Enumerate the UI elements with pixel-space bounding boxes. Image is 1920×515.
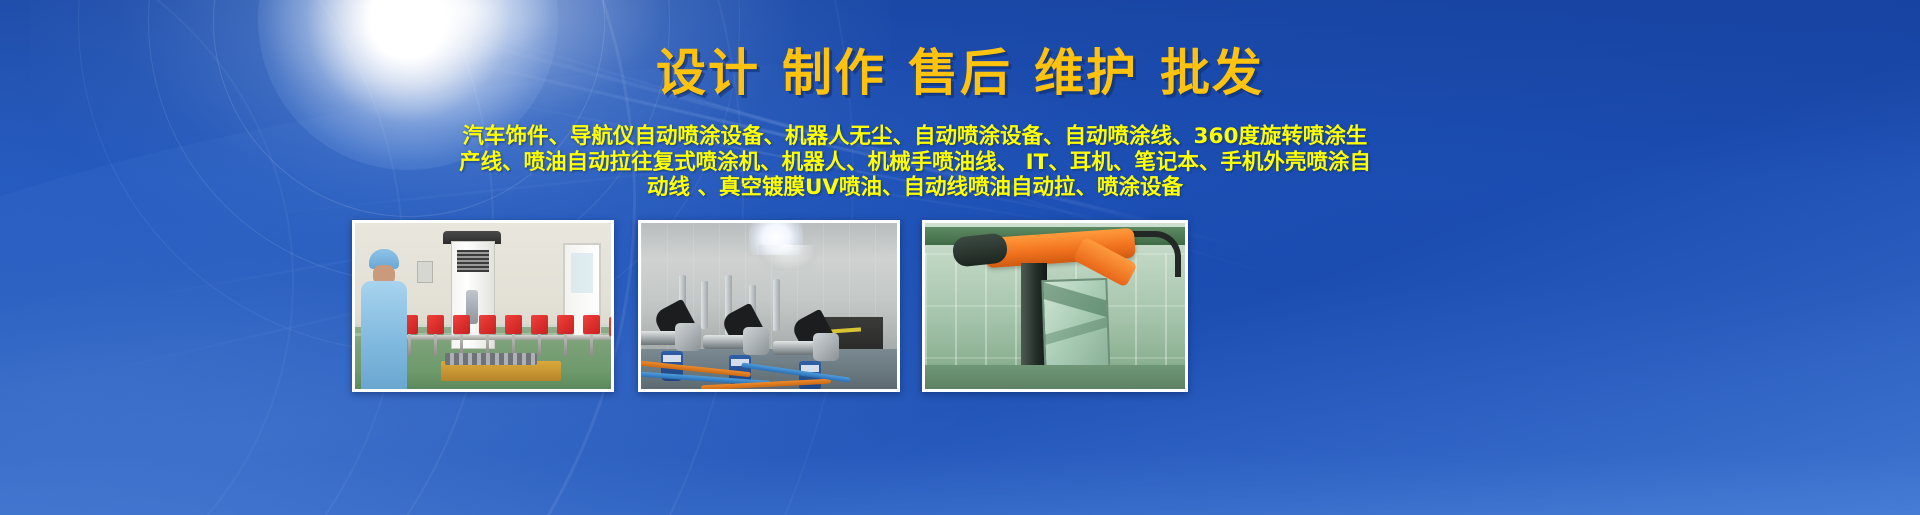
booth-hood [759,245,817,271]
air-hoses [641,353,897,389]
banner-headline: 设计制作售后维护批发 [0,48,1920,98]
headline-word-wholesale: 批发 [1160,44,1264,102]
banner-description: 汽车饰件、导航仪自动喷涂设备、机器人无尘、自动喷涂设备、自动喷涂线、360度旋转… [350,124,1480,201]
booth-floor [925,365,1185,389]
headline-word-maintenance: 维护 [1034,44,1138,102]
description-line-1: 汽车饰件、导航仪自动喷涂设备、机器人无尘、自动喷涂设备、自动喷涂线、360度旋转… [350,124,1480,150]
headline-word-after-sales: 售后 [908,44,1012,102]
description-line-3: 动线 、真空镀膜UV喷油、自动线喷油自动拉、喷涂设备 [350,175,1480,201]
description-line-2: 产线、喷油自动拉往复式喷涂机、机器人、机械手喷油线、 IT、耳机、笔记本、手机外… [350,150,1480,176]
photo-cleanroom-coating-line[interactable] [352,220,614,392]
headline-word-design: 设计 [656,44,760,102]
banner-photo-strip [0,220,1920,396]
photo-robot-spray-arm[interactable] [922,220,1188,392]
cleanroom-operator [361,249,407,389]
promotional-banner: 设计制作售后维护批发 汽车饰件、导航仪自动喷涂设备、机器人无尘、自动喷涂设备、自… [0,0,1920,515]
photo-spray-gun-station[interactable] [638,220,900,392]
headline-word-manufacture: 制作 [782,44,886,102]
control-panel [417,261,433,283]
banner-content: 设计制作售后维护批发 汽车饰件、导航仪自动喷涂设备、机器人无尘、自动喷涂设备、自… [0,0,1920,515]
parts-tray [441,361,561,381]
